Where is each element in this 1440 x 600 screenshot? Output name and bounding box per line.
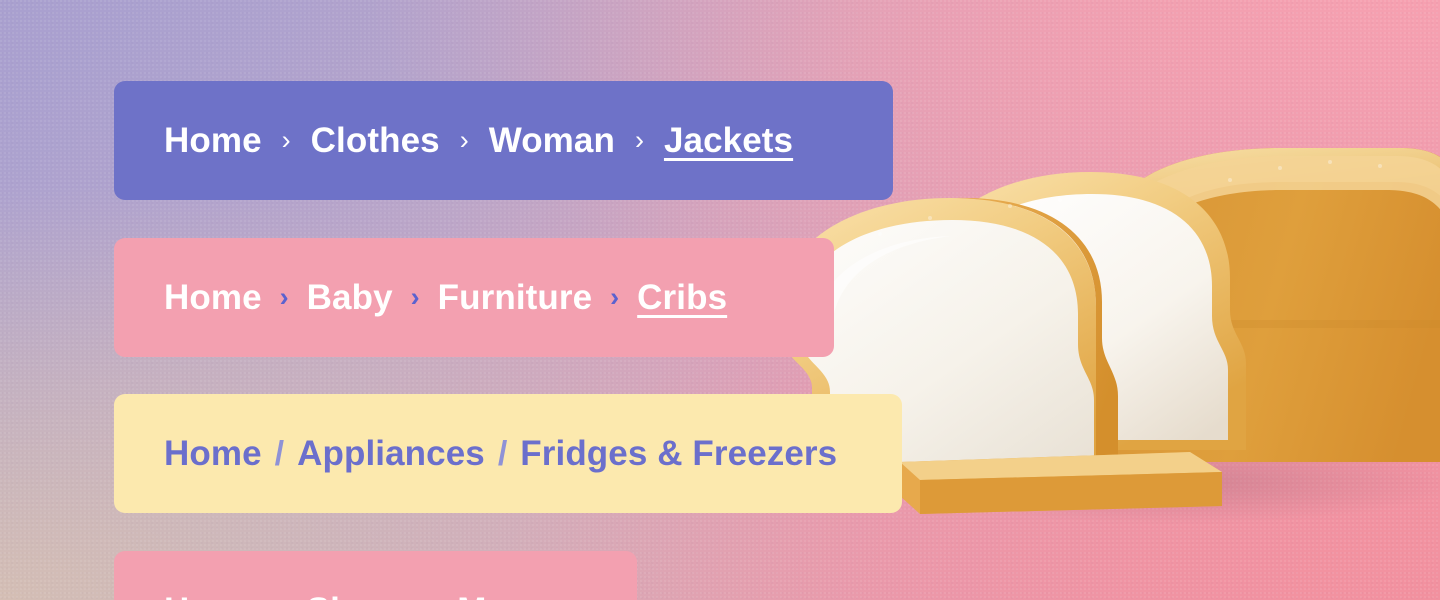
breadcrumb-current-fridges-freezers[interactable]: Fridges & Freezers <box>520 436 837 471</box>
breadcrumb-bar-partial: Home › Shoes › Men <box>114 551 637 600</box>
breadcrumb-current-men[interactable]: Men <box>457 593 527 600</box>
breadcrumb-bar-jackets: Home › Clothes › Woman › Jackets <box>114 81 893 200</box>
breadcrumb-separator-icon: › <box>280 284 289 311</box>
breadcrumb-link-woman[interactable]: Woman <box>489 123 615 158</box>
canvas-stage: Home › Clothes › Woman › Jackets Home › … <box>0 0 1440 600</box>
breadcrumb-link-home[interactable]: Home <box>164 593 262 600</box>
breadcrumb-list: Home › Clothes › Woman › Jackets <box>164 123 793 158</box>
breadcrumb-current-cribs[interactable]: Cribs <box>637 280 727 315</box>
breadcrumb-separator-icon: › <box>411 284 420 311</box>
breadcrumb-separator-icon: › <box>282 127 291 154</box>
breadcrumb-separator-icon: › <box>610 284 619 311</box>
breadcrumb-link-baby[interactable]: Baby <box>307 280 393 315</box>
breadcrumb-bar-fridges: Home / Appliances / Fridges & Freezers <box>114 394 902 513</box>
bread-slice-base <box>900 452 1222 514</box>
breadcrumb-link-home[interactable]: Home <box>164 123 262 158</box>
breadcrumb-list: Home › Baby › Furniture › Cribs <box>164 280 727 315</box>
breadcrumb-link-clothes[interactable]: Clothes <box>311 123 440 158</box>
breadcrumb-separator-icon: / <box>275 437 284 471</box>
breadcrumb-link-appliances[interactable]: Appliances <box>297 436 485 471</box>
breadcrumb-separator-icon: / <box>498 437 507 471</box>
breadcrumb-separator-icon: › <box>460 127 469 154</box>
breadcrumb-link-furniture[interactable]: Furniture <box>438 280 593 315</box>
breadcrumb-link-shoes[interactable]: Shoes <box>307 593 413 600</box>
breadcrumb-current-jackets[interactable]: Jackets <box>664 123 793 158</box>
breadcrumb-link-home[interactable]: Home <box>164 436 262 471</box>
breadcrumb-bar-cribs: Home › Baby › Furniture › Cribs <box>114 238 834 357</box>
breadcrumb-link-home[interactable]: Home <box>164 280 262 315</box>
breadcrumb-list: Home / Appliances / Fridges & Freezers <box>164 436 837 471</box>
breadcrumb-list: Home › Shoes › Men <box>164 593 528 600</box>
breadcrumb-separator-icon: › <box>635 127 644 154</box>
